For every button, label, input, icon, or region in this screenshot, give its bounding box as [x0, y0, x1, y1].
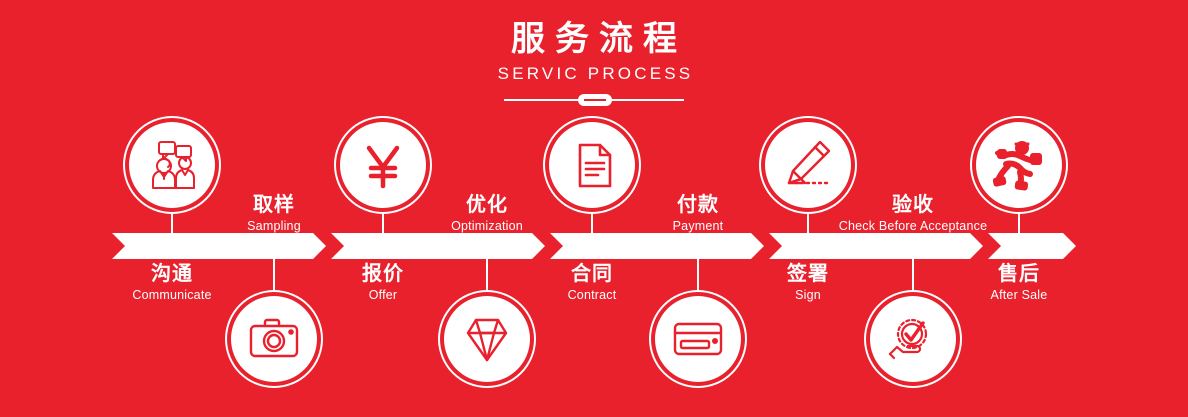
step-label-cn: 售后	[899, 262, 1139, 287]
node-dot	[909, 246, 918, 255]
arrow-segment	[331, 233, 545, 259]
step-label-offer: 报价 Offer	[263, 262, 503, 304]
step-label-en: After Sale	[899, 287, 1139, 304]
step-label-payment: 付款 Payment	[578, 193, 818, 235]
step-label-en: Sampling	[154, 218, 394, 235]
camera-icon[interactable]	[231, 296, 317, 382]
step-label-cn: 报价	[263, 262, 503, 287]
node-dot	[168, 246, 177, 255]
step-label-en: Payment	[578, 218, 818, 235]
arrow-segment	[988, 233, 1076, 259]
step-label-en: Offer	[263, 287, 503, 304]
node-dot	[1015, 246, 1024, 255]
step-label-en: Optimization	[367, 218, 607, 235]
hand-check-icon[interactable]	[870, 296, 956, 382]
step-label-cn: 优化	[367, 193, 607, 218]
node-dot	[694, 246, 703, 255]
step-label-cn: 合同	[472, 262, 712, 287]
node-dot	[804, 246, 813, 255]
arrow-segment	[112, 233, 326, 259]
step-label-en: Sign	[688, 287, 928, 304]
step-label-optimization: 优化 Optimization	[367, 193, 607, 235]
header: 服务流程 SERVIC PROCESS	[0, 18, 1188, 107]
service-process-infographic: 服务流程 SERVIC PROCESS	[0, 0, 1188, 417]
step-label-en: Check Before Acceptance	[793, 218, 1033, 235]
arrow-segment	[550, 233, 764, 259]
arrow-segment	[769, 233, 983, 259]
step-label-check-before-acceptance: 验收 Check Before Acceptance	[793, 193, 1033, 235]
node-dot	[483, 246, 492, 255]
divider-slit	[584, 99, 606, 101]
step-label-after-sale: 售后 After Sale	[899, 262, 1139, 304]
step-label-cn: 取样	[154, 193, 394, 218]
step-label-communicate: 沟通 Communicate	[52, 262, 292, 304]
step-label-sampling: 取样 Sampling	[154, 193, 394, 235]
node-dot	[270, 246, 279, 255]
paperclip-divider-icon	[504, 93, 684, 107]
step-label-cn: 签署	[688, 262, 928, 287]
page-title-cn: 服务流程	[0, 18, 1188, 60]
page-title-en: SERVIC PROCESS	[0, 62, 1188, 86]
step-label-contract: 合同 Contract	[472, 262, 712, 304]
step-label-en: Communicate	[52, 287, 292, 304]
step-label-cn: 沟通	[52, 262, 292, 287]
node-dot	[379, 246, 388, 255]
step-label-cn: 验收	[793, 193, 1033, 218]
node-dot	[588, 246, 597, 255]
step-label-sign: 签署 Sign	[688, 262, 928, 304]
credit-card-icon[interactable]	[655, 296, 741, 382]
step-label-cn: 付款	[578, 193, 818, 218]
diamond-icon[interactable]	[444, 296, 530, 382]
step-label-en: Contract	[472, 287, 712, 304]
